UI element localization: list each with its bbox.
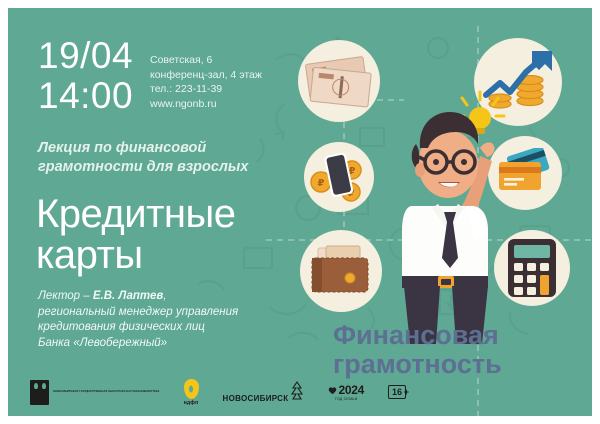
ndfp-logo: ндфп bbox=[184, 379, 199, 406]
age-rating-number: 16 bbox=[392, 387, 402, 397]
svg-text:₽: ₽ bbox=[318, 178, 325, 189]
venue-phone: тел.: 223-11-39 bbox=[150, 82, 262, 97]
lecturer-role-3: Банка «Левобережный» bbox=[38, 337, 167, 349]
venue-website[interactable]: www.ngonb.ru bbox=[150, 97, 262, 112]
lecturer-info: Лектор – Е.В. Лаптев, региональный менед… bbox=[38, 289, 253, 351]
banknotes-circle bbox=[298, 40, 380, 122]
lecturer-role-2: кредитования физических лиц bbox=[38, 321, 205, 333]
ngonb-logo-text: НОВОСИБИРСКАЯ ГОСУДАРСТВЕННАЯ ОБЛАСТНАЯ … bbox=[53, 390, 160, 393]
year-2024-subtext: ГОД СЕМЬИ bbox=[328, 397, 364, 401]
lecturer-role-1: региональный менеджер управления bbox=[38, 306, 238, 318]
event-time: 14:00 bbox=[38, 76, 133, 116]
businessman-pointing bbox=[376, 86, 526, 348]
venue-street: Советская, 6 bbox=[150, 53, 262, 68]
fir-tree-icon bbox=[290, 381, 304, 401]
campaign-line-1: Финансовая bbox=[333, 321, 583, 350]
year-2024-logo: 2024 ГОД СЕМЬИ bbox=[328, 383, 364, 401]
footer-logos: НОВОСИБИРСКАЯ ГОСУДАРСТВЕННАЯ ОБЛАСТНАЯ … bbox=[30, 372, 406, 412]
lecturer-prefix: Лектор – bbox=[38, 290, 93, 302]
age-rating-plus: + bbox=[404, 387, 409, 397]
diamond-icon bbox=[184, 379, 199, 399]
event-date: 19/04 bbox=[38, 36, 133, 76]
venue-info: Советская, 6 конференц-зал, 4 этаж тел.:… bbox=[150, 53, 262, 111]
lecturer-name: Е.В. Лаптев bbox=[93, 290, 163, 302]
wallet-circle bbox=[300, 230, 382, 312]
lecture-title: Кредитные карты bbox=[36, 194, 296, 276]
ngonb-logo: НОВОСИБИРСКАЯ ГОСУДАРСТВЕННАЯ ОБЛАСТНАЯ … bbox=[30, 380, 160, 405]
event-datetime: 19/04 14:00 bbox=[38, 36, 133, 116]
year-2024-text: 2024 bbox=[338, 383, 364, 397]
campaign-heading: Финансовая грамотность bbox=[333, 321, 583, 379]
poster: ₽₽₽ bbox=[0, 0, 600, 424]
ndfp-logo-text: ндфп bbox=[184, 400, 199, 406]
novosibirsk-logo: НОВОСИБИРСК bbox=[223, 381, 305, 403]
lecturer-comma: , bbox=[163, 290, 166, 302]
year-2024-row: 2024 bbox=[328, 383, 364, 397]
venue-hall: конференц-зал, 4 этаж bbox=[150, 68, 262, 83]
heart-icon bbox=[328, 386, 337, 395]
poster-canvas: ₽₽₽ bbox=[8, 8, 592, 416]
owl-icon bbox=[30, 380, 49, 405]
novosibirsk-logo-text: НОВОСИБИРСК bbox=[223, 394, 289, 403]
age-rating: 16+ bbox=[388, 385, 406, 399]
smartphone-coins-circle: ₽₽₽ bbox=[304, 142, 374, 212]
lecture-subtitle: Лекция по финансовой грамотности для взр… bbox=[38, 139, 293, 177]
